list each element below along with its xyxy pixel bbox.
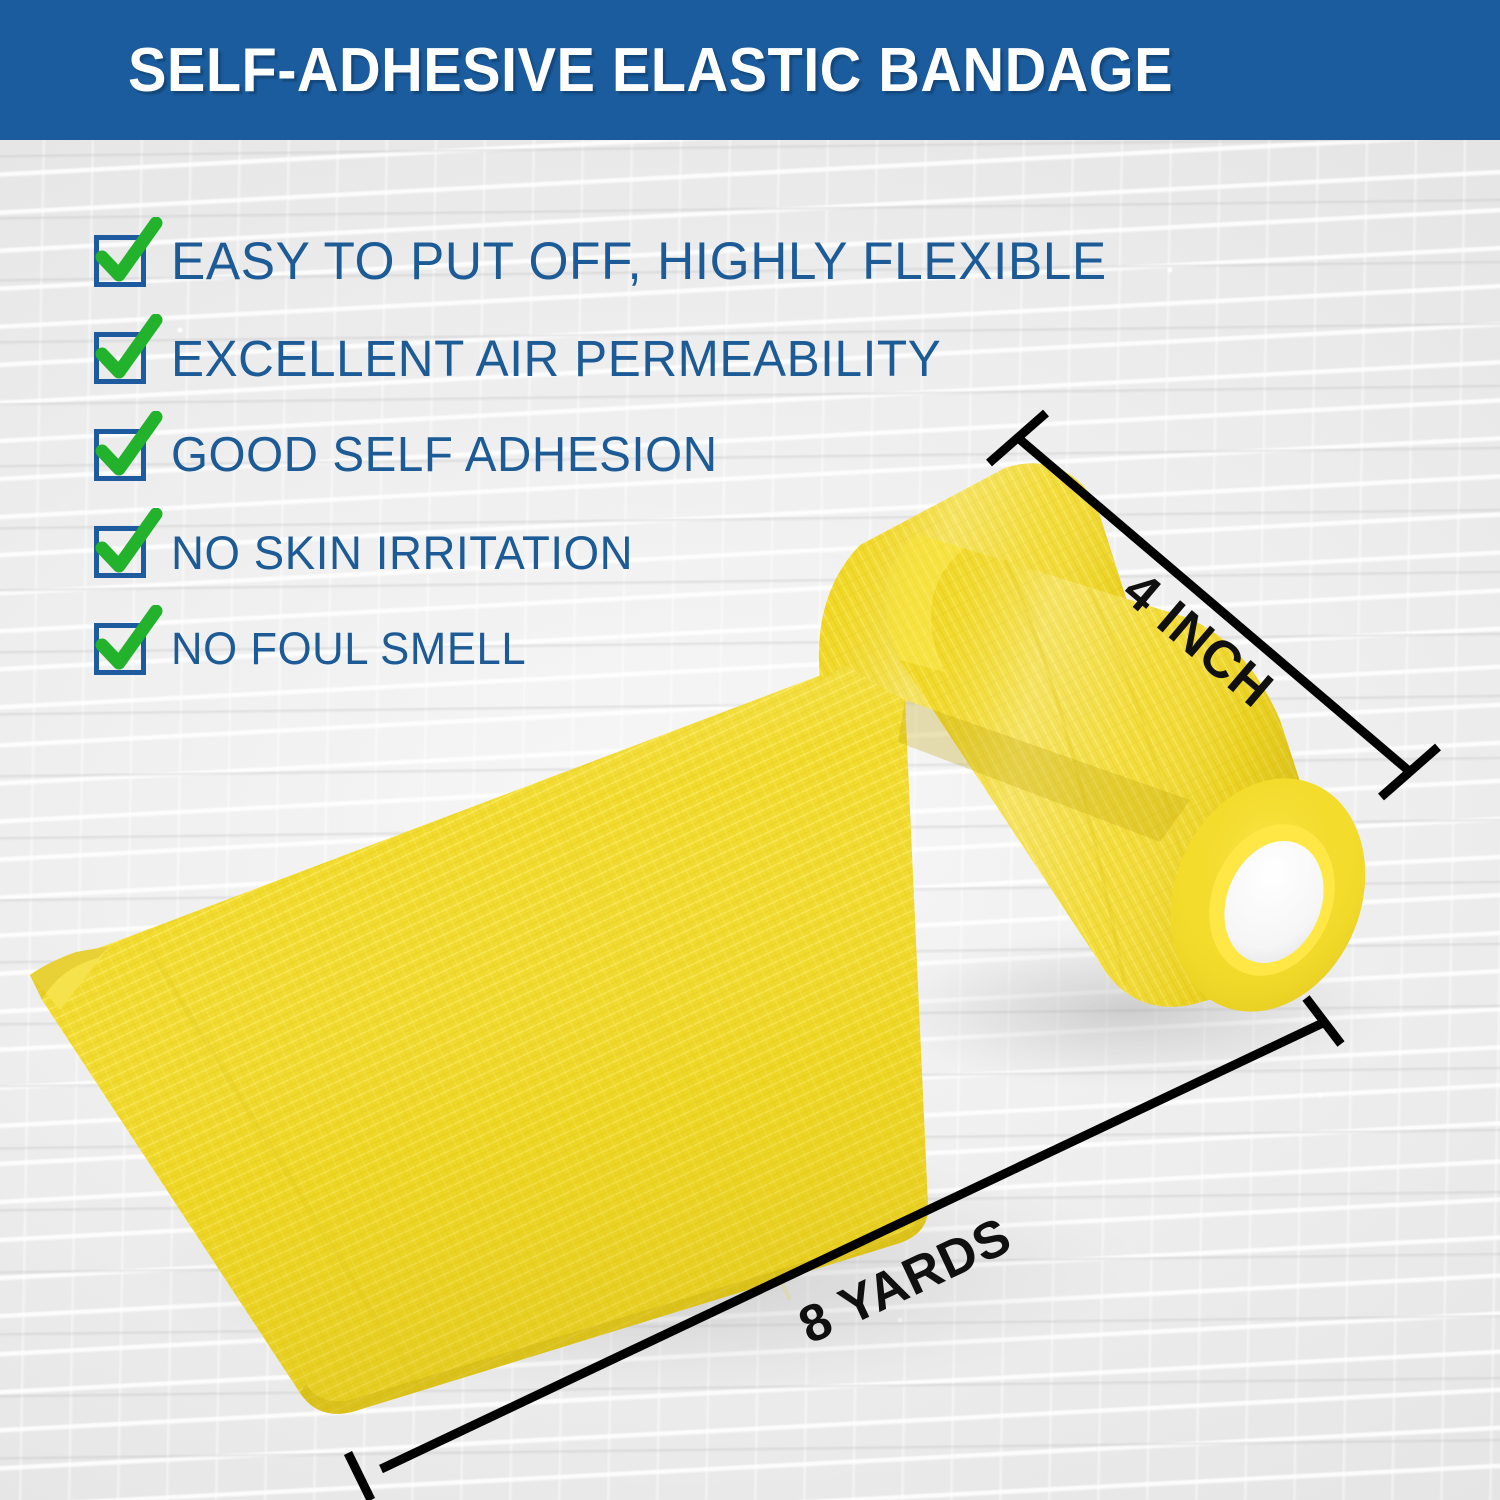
bandage-graphic — [0, 0, 1500, 1500]
feature-item-1: EXCELLENT AIR PERMEABILITY — [94, 329, 1214, 387]
product-infographic: SELF-ADHESIVE ELASTIC BANDAGE — [0, 0, 1500, 1500]
check-mark-icon — [92, 217, 164, 289]
feature-label-2: GOOD SELF ADHESION — [171, 427, 718, 483]
check-mark-icon — [92, 314, 164, 386]
feature-list: EASY TO PUT OFF, HIGHLY FLEXIBLE EXCELLE… — [94, 232, 1214, 717]
feature-item-0: EASY TO PUT OFF, HIGHLY FLEXIBLE — [94, 232, 1214, 290]
checked-checkbox-icon — [94, 526, 146, 578]
checked-checkbox-icon — [94, 429, 146, 481]
product-illustration: 4 INCH 8 YARDS — [0, 0, 1500, 1500]
feature-item-3: NO SKIN IRRITATION — [94, 523, 1214, 581]
feature-label-1: EXCELLENT AIR PERMEABILITY — [171, 329, 941, 388]
check-mark-icon — [92, 605, 164, 677]
feature-label-0: EASY TO PUT OFF, HIGHLY FLEXIBLE — [171, 231, 1107, 292]
feature-item-2: GOOD SELF ADHESION — [94, 426, 1214, 484]
feature-label-4: NO FOUL SMELL — [171, 623, 526, 675]
checked-checkbox-icon — [94, 332, 146, 384]
feature-item-4: NO FOUL SMELL — [94, 620, 1214, 678]
checked-checkbox-icon — [94, 623, 146, 675]
feature-label-3: NO SKIN IRRITATION — [171, 525, 633, 580]
check-mark-icon — [92, 411, 164, 483]
checked-checkbox-icon — [94, 235, 146, 287]
check-mark-icon — [92, 508, 164, 580]
